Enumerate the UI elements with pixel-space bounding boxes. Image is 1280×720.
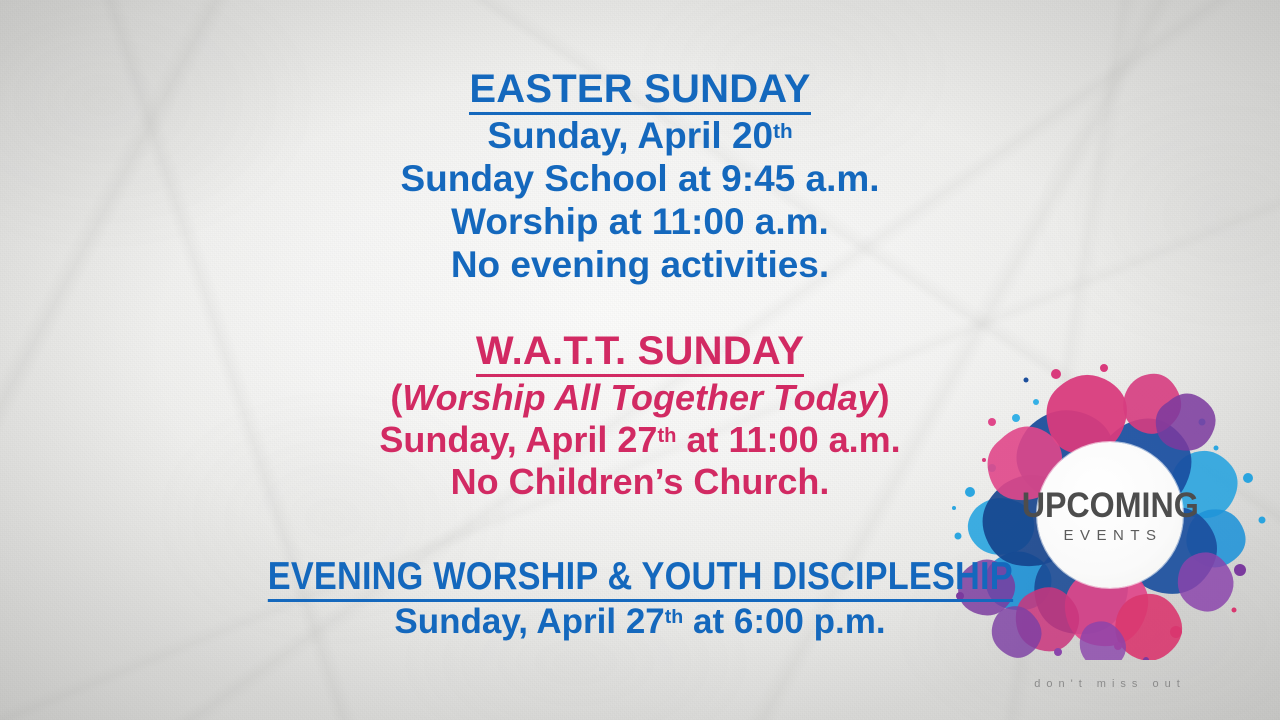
announcement-evening-worship: EVENING WORSHIP & YOUTH DISCIPLESHIP Sun… — [0, 556, 1280, 643]
subtitle-open-paren: ( — [390, 377, 402, 418]
line-text: Sunday, April 27 — [379, 419, 657, 460]
announcement-subtitle: (Worship All Together Today) — [0, 377, 1280, 419]
subtitle-italic-text: Worship All Together Today — [402, 377, 877, 418]
ordinal-suffix: th — [665, 606, 684, 628]
ordinal-suffix: th — [773, 120, 793, 143]
line-text-tail: at 6:00 p.m. — [683, 602, 885, 641]
heading-text: W.A.T.T. SUNDAY — [476, 329, 804, 373]
announcement-line: Sunday, April 27th at 6:00 p.m. — [0, 602, 1280, 642]
announcement-line: Sunday, April 20th — [0, 115, 1280, 158]
heading-underline — [268, 599, 1013, 602]
announcement-watt-sunday: W.A.T.T. SUNDAY (Worship All Together To… — [0, 330, 1280, 502]
announcement-heading: EVENING WORSHIP & YOUTH DISCIPLESHIP — [268, 556, 1013, 602]
announcement-line: Worship at 11:00 a.m. — [0, 201, 1280, 244]
ordinal-suffix: th — [657, 425, 676, 447]
subtitle-close-paren: ) — [878, 377, 890, 418]
announcement-heading: W.A.T.T. SUNDAY — [476, 330, 804, 377]
announcement-easter-sunday: EASTER SUNDAY Sunday, April 20th Sunday … — [0, 68, 1280, 286]
heading-text: EASTER SUNDAY — [469, 67, 810, 111]
announcement-line: Sunday, April 27th at 11:00 a.m. — [0, 419, 1280, 461]
line-text: Sunday, April 27 — [394, 602, 664, 641]
announcement-heading: EASTER SUNDAY — [469, 68, 810, 115]
line-text: No evening activities. — [451, 244, 829, 285]
line-text: Sunday School at 9:45 a.m. — [400, 158, 879, 199]
line-text: Sunday, April 20 — [487, 115, 773, 156]
line-text: No Children’s Church. — [451, 461, 830, 502]
announcement-list: EASTER SUNDAY Sunday, April 20th Sunday … — [0, 0, 1280, 720]
announcement-line: Sunday School at 9:45 a.m. — [0, 158, 1280, 201]
heading-text: EVENING WORSHIP & YOUTH DISCIPLESHIP — [268, 555, 1013, 598]
slide-canvas: UPCOMING EVENTS don't miss out EASTER SU… — [0, 0, 1280, 720]
line-text-tail: at 11:00 a.m. — [676, 419, 900, 460]
line-text: Worship at 11:00 a.m. — [451, 201, 829, 242]
announcement-line: No evening activities. — [0, 244, 1280, 287]
announcement-line: No Children’s Church. — [0, 461, 1280, 503]
